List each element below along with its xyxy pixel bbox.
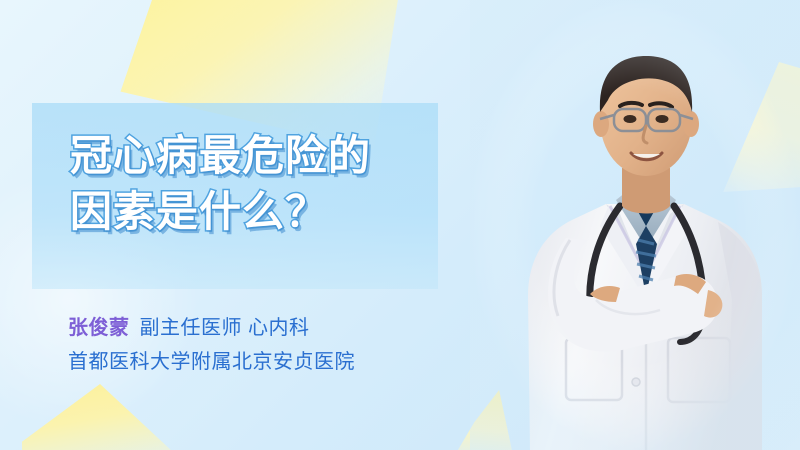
- credit-line-primary: 张俊蒙副主任医师 心内科: [68, 312, 355, 346]
- page-title: 冠心病最危险的 因素是什么？: [70, 128, 470, 240]
- yellow-triangle-bottom-left-decoration: [22, 384, 172, 450]
- thumbnail-canvas: 冠心病最危险的 因素是什么？ 张俊蒙副主任医师 心内科 首都医科大学附属北京安贞…: [0, 0, 800, 450]
- doctor-title-department: 副主任医师 心内科: [140, 317, 310, 339]
- doctor-credit: 张俊蒙副主任医师 心内科 首都医科大学附属北京安贞医院: [68, 312, 355, 380]
- doctor-hospital: 首都医科大学附属北京安贞医院: [68, 351, 355, 373]
- title-line-1: 冠心病最危险的: [70, 128, 470, 184]
- doctor-portrait: [470, 0, 800, 450]
- title-line-2: 因素是什么？: [70, 184, 470, 240]
- credit-line-secondary: 首都医科大学附属北京安贞医院: [68, 346, 355, 380]
- doctor-name: 张俊蒙: [68, 317, 130, 339]
